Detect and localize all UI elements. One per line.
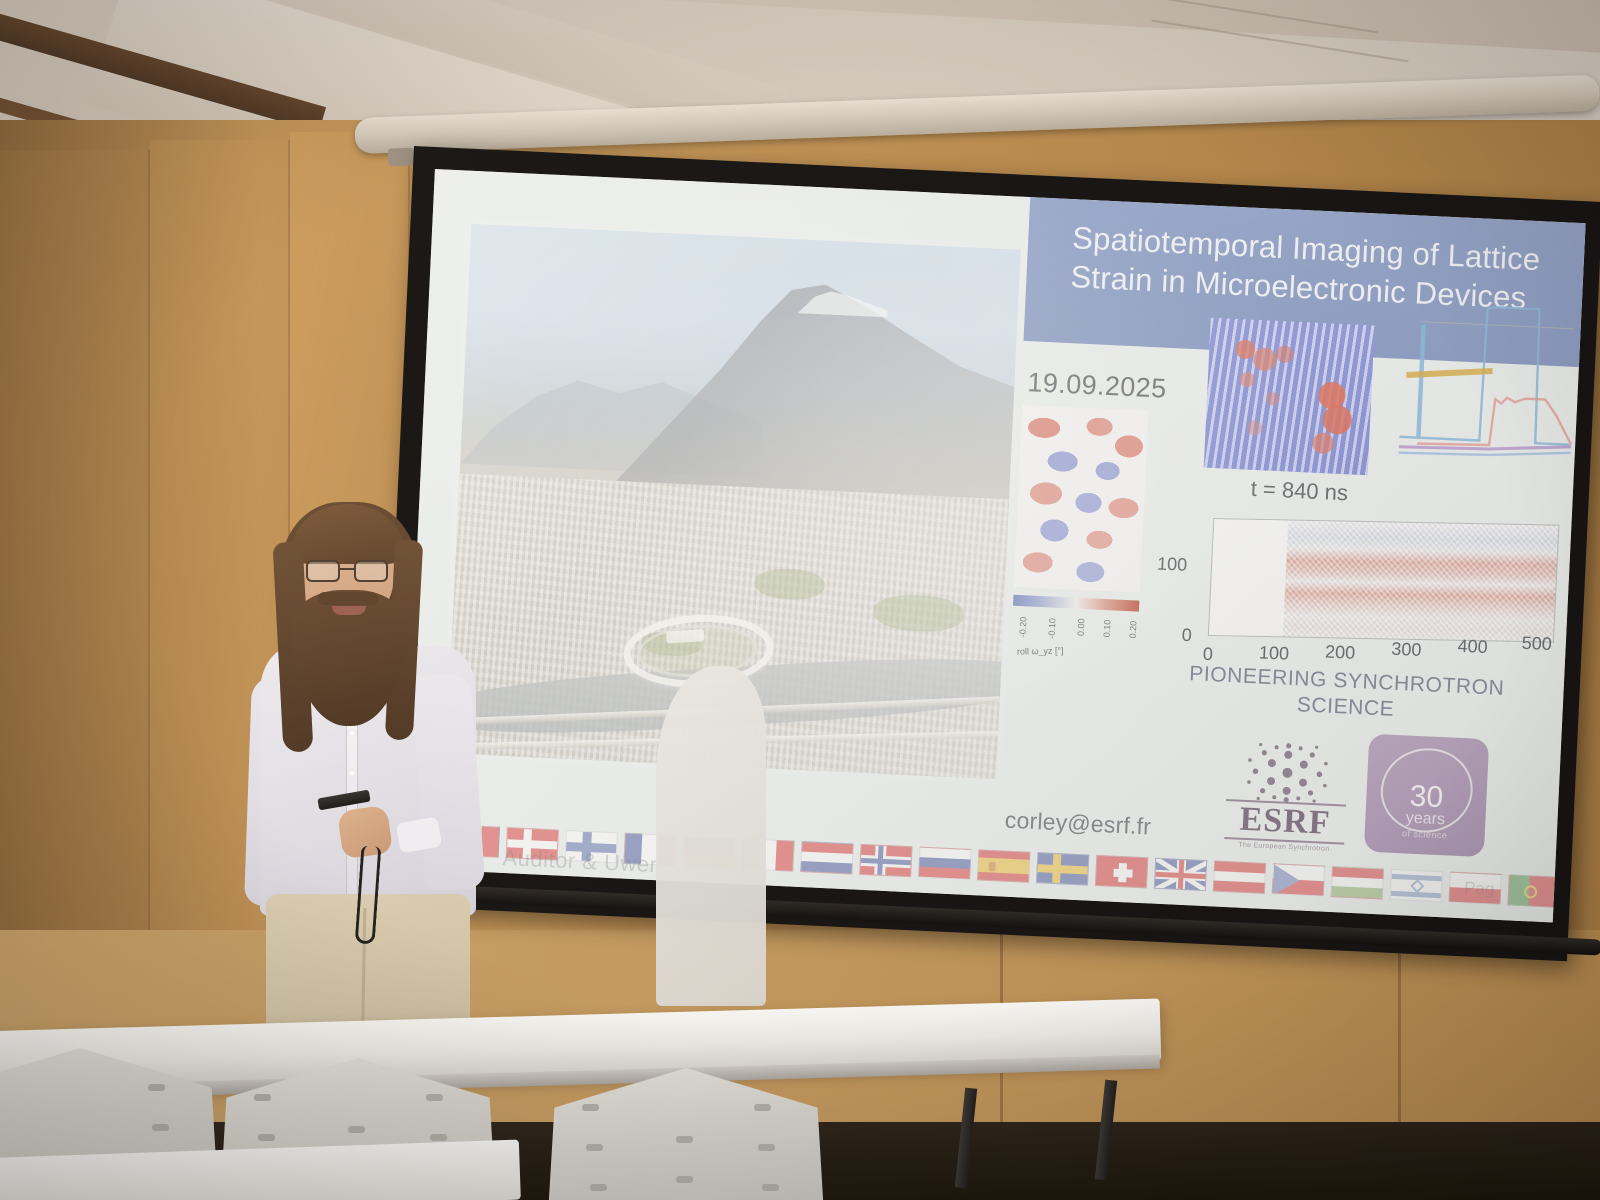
shirt-button [349,730,355,736]
esrf-logo: ESRF The European Synchrotron [1224,737,1349,855]
flag-sweden [1036,852,1089,885]
flag-hungary [1331,866,1384,899]
timing-traces-svg [1392,287,1586,476]
colorbar-tick: 0.00 [1076,618,1087,636]
contact-email: corley@esrf.fr [1004,807,1151,841]
wall-shadow [0,120,260,940]
glasses-lens-right [354,560,388,582]
esrf-dot-mark-icon [1240,738,1335,808]
figure-strain-field-blue [1204,318,1375,476]
heatmap-xtick: 500 [1521,633,1552,655]
flag-norway [859,843,912,876]
heatmap-title: t = 840 ns [1250,476,1348,507]
flag-russia [918,846,971,879]
colorbar-tick: 0.20 [1128,621,1139,639]
colorbar-mosaicity [1013,595,1139,612]
presentation-slide: Spatiotemporal Imaging of Lattice Strain… [402,169,1586,922]
glasses-lens-left [306,560,340,582]
heatmap-ytick: 100 [1157,553,1188,575]
esrf-wordmark: ESRF [1224,799,1346,844]
anniversary-badge: 30 years of science [1364,734,1489,858]
chair[interactable] [546,1068,826,1200]
heatmap-xtick: 100 [1259,642,1290,664]
heatmap-ytick: 0 [1181,625,1192,646]
heatmap-plot [1208,518,1560,643]
flag-czech-republic [1272,863,1325,896]
flag-switzerland [1095,854,1148,887]
figure-mosaicity-map [1014,405,1148,593]
flag-spain [977,849,1030,882]
heatmap-xtick: 400 [1457,636,1488,658]
heatmap-blank-region [1209,519,1288,636]
presenter-glasses [304,560,392,582]
colorbar-tick: -0.10 [1047,618,1058,639]
projection-screen-surface: Spatiotemporal Imaging of Lattice Strain… [402,169,1586,922]
figure-timing-traces [1392,287,1586,476]
colorbar-tick: -0.20 [1018,616,1029,637]
roller-endcap [388,148,415,167]
wall-seam [1398,930,1401,1130]
flag-netherlands [800,841,853,874]
slide-page-label: Pag [1464,878,1495,899]
glasses-bridge [340,568,356,570]
colorbar-tick: 0.10 [1102,619,1113,637]
conference-room-scene: Spatiotemporal Imaging of Lattice Strain… [0,0,1600,1200]
flag-united-kingdom [1154,857,1207,890]
projection-screen: Spatiotemporal Imaging of Lattice Strain… [378,146,1600,961]
slide-date: 19.09.2025 [1027,367,1167,405]
presenter-mouth [332,606,366,615]
presenter-mustache [318,592,378,605]
heatmap-xtick: 200 [1325,641,1356,663]
flag-israel [1390,868,1443,901]
flag-portugal [1507,874,1560,907]
shirt-button [349,770,355,776]
background-object [656,666,766,1006]
colorbar-axis-label: roll ω_yz [°] [1017,646,1064,657]
heatmap-xtick: 300 [1391,639,1422,661]
presenter [222,498,522,1058]
flag-austria [1213,860,1266,893]
esrf-tagline: PIONEERING SYNCHROTRON SCIENCE [1180,661,1512,729]
